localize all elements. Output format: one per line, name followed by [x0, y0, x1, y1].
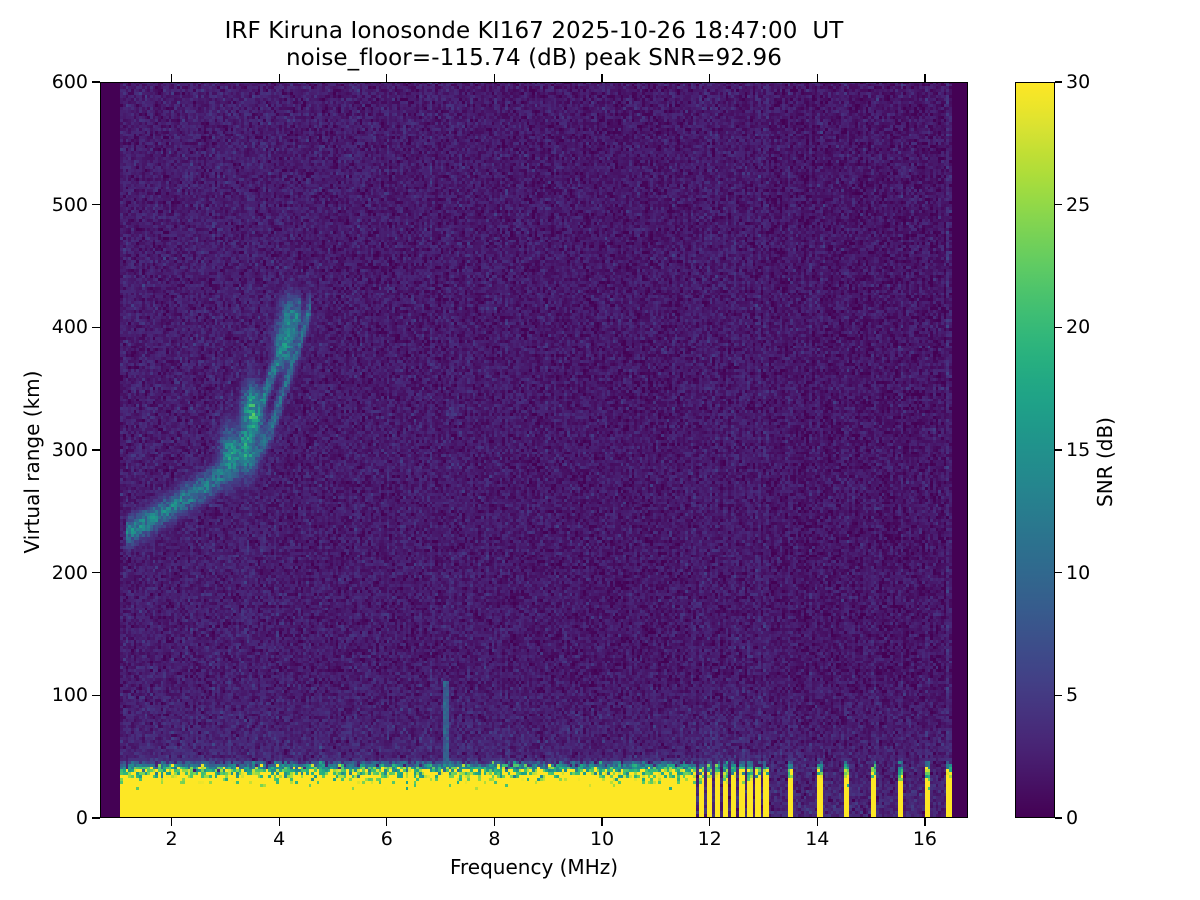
- x-tick-mark-top: [386, 74, 387, 82]
- colorbar-label: SNR (dB): [1093, 312, 1117, 612]
- x-axis-label: Frequency (MHz): [100, 855, 968, 879]
- y-tick-mark: [92, 572, 100, 573]
- x-tick-mark: [924, 818, 925, 826]
- y-axis-label: Virtual range (km): [20, 262, 44, 662]
- colorbar-gradient: [1016, 83, 1054, 817]
- x-tick-mark: [817, 818, 818, 826]
- x-tick-label: 14: [805, 828, 829, 850]
- x-tick-mark-top: [494, 74, 495, 82]
- y-tick-label: 600: [8, 71, 88, 93]
- colorbar-tick-mark: [1055, 817, 1062, 818]
- y-tick-mark: [92, 449, 100, 450]
- x-tick-mark-top: [817, 74, 818, 82]
- y-tick-mark: [92, 204, 100, 205]
- y-tick-mark: [92, 327, 100, 328]
- colorbar-tick-label: 25: [1066, 194, 1090, 216]
- x-tick-mark-top: [709, 74, 710, 82]
- x-tick-mark-top: [279, 74, 280, 82]
- x-tick-mark-top: [601, 74, 602, 82]
- x-tick-mark: [386, 818, 387, 826]
- ionogram-figure: IRF Kiruna Ionosonde KI167 2025-10-26 18…: [0, 0, 1200, 900]
- colorbar-tick-mark: [1055, 81, 1062, 82]
- y-tick-label: 100: [8, 684, 88, 706]
- x-tick-label: 10: [590, 828, 614, 850]
- y-tick-mark: [92, 695, 100, 696]
- colorbar-tick-mark: [1055, 695, 1062, 696]
- x-tick-mark: [171, 818, 172, 826]
- x-tick-label: 16: [913, 828, 937, 850]
- colorbar-tick-label: 30: [1066, 71, 1090, 93]
- x-tick-mark: [601, 818, 602, 826]
- colorbar-tick-mark: [1055, 572, 1062, 573]
- y-tick-label: 0: [8, 807, 88, 829]
- x-tick-mark-top: [924, 74, 925, 82]
- colorbar: [1015, 82, 1055, 818]
- x-tick-label: 6: [381, 828, 393, 850]
- colorbar-tick-label: 5: [1066, 684, 1078, 706]
- y-tick-mark: [92, 817, 100, 818]
- x-tick-mark-top: [171, 74, 172, 82]
- x-tick-mark: [279, 818, 280, 826]
- colorbar-tick-mark: [1055, 204, 1062, 205]
- x-tick-label: 8: [488, 828, 500, 850]
- y-tick-mark: [92, 81, 100, 82]
- colorbar-tick-mark: [1055, 449, 1062, 450]
- colorbar-tick-label: 10: [1066, 562, 1090, 584]
- colorbar-tick-label: 0: [1066, 807, 1078, 829]
- x-tick-mark: [709, 818, 710, 826]
- x-tick-label: 4: [273, 828, 285, 850]
- colorbar-tick-label: 20: [1066, 316, 1090, 338]
- x-tick-label: 2: [166, 828, 178, 850]
- colorbar-tick-mark: [1055, 327, 1062, 328]
- x-tick-mark: [494, 818, 495, 826]
- y-tick-label: 500: [8, 194, 88, 216]
- colorbar-tick-label: 15: [1066, 439, 1090, 461]
- x-tick-label: 12: [698, 828, 722, 850]
